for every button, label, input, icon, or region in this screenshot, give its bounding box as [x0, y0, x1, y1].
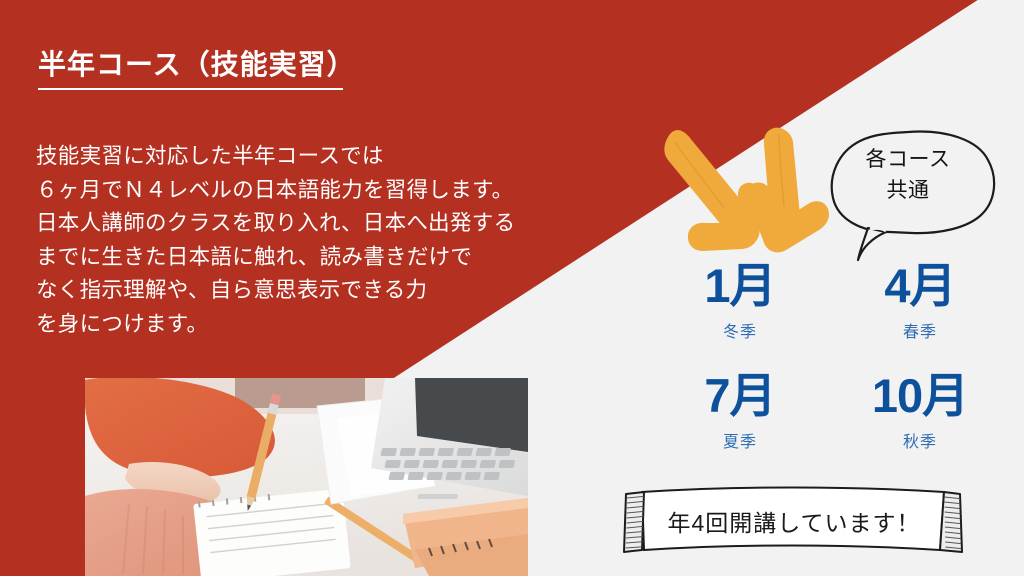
month-season: 春季 — [830, 320, 1010, 346]
months-row-1: 1月 冬季 4月 春季 — [650, 258, 1010, 346]
speech-bubble-line-2: 共通 — [828, 175, 988, 206]
speech-bubble-line-1: 各コース — [828, 144, 988, 175]
page-title: 半年コース（技能実習） — [38, 48, 356, 82]
month-number: 7月 — [650, 368, 830, 424]
months-row-2: 7月 夏季 10月 秋季 — [650, 368, 1010, 456]
month-item-october: 10月 秋季 — [830, 368, 1010, 456]
page-title-underline — [38, 88, 343, 90]
study-photo-illustration — [85, 378, 528, 576]
month-number: 10月 — [830, 368, 1010, 424]
month-season: 秋季 — [830, 430, 1010, 456]
banner-ribbon: 年4回開講しています！ — [618, 484, 966, 558]
months-grid: 1月 冬季 4月 春季 7月 夏季 10月 秋季 — [650, 258, 1010, 456]
month-season: 夏季 — [650, 430, 830, 456]
month-number: 4月 — [830, 258, 1010, 314]
slide-root: 半年コース（技能実習） 技能実習に対応した半年コースでは ６ヶ月でＮ４レベルの日… — [0, 0, 1024, 576]
arrows-group — [648, 122, 828, 262]
speech-bubble-text: 各コース 共通 — [828, 144, 988, 206]
month-number: 1月 — [650, 258, 830, 314]
speech-bubble: 各コース 共通 — [828, 128, 1004, 264]
month-item-april: 4月 春季 — [830, 258, 1010, 346]
study-photo — [85, 378, 528, 576]
arrow-down-icon — [747, 128, 829, 253]
month-item-january: 1月 冬季 — [650, 258, 830, 346]
course-description: 技能実習に対応した半年コースでは ６ヶ月でＮ４レベルの日本語能力を習得します。 … — [36, 140, 515, 341]
arrow-down-right-icon — [664, 130, 760, 251]
banner-text: 年4回開講しています！ — [618, 484, 966, 558]
month-season: 冬季 — [650, 320, 830, 346]
month-item-july: 7月 夏季 — [650, 368, 830, 456]
